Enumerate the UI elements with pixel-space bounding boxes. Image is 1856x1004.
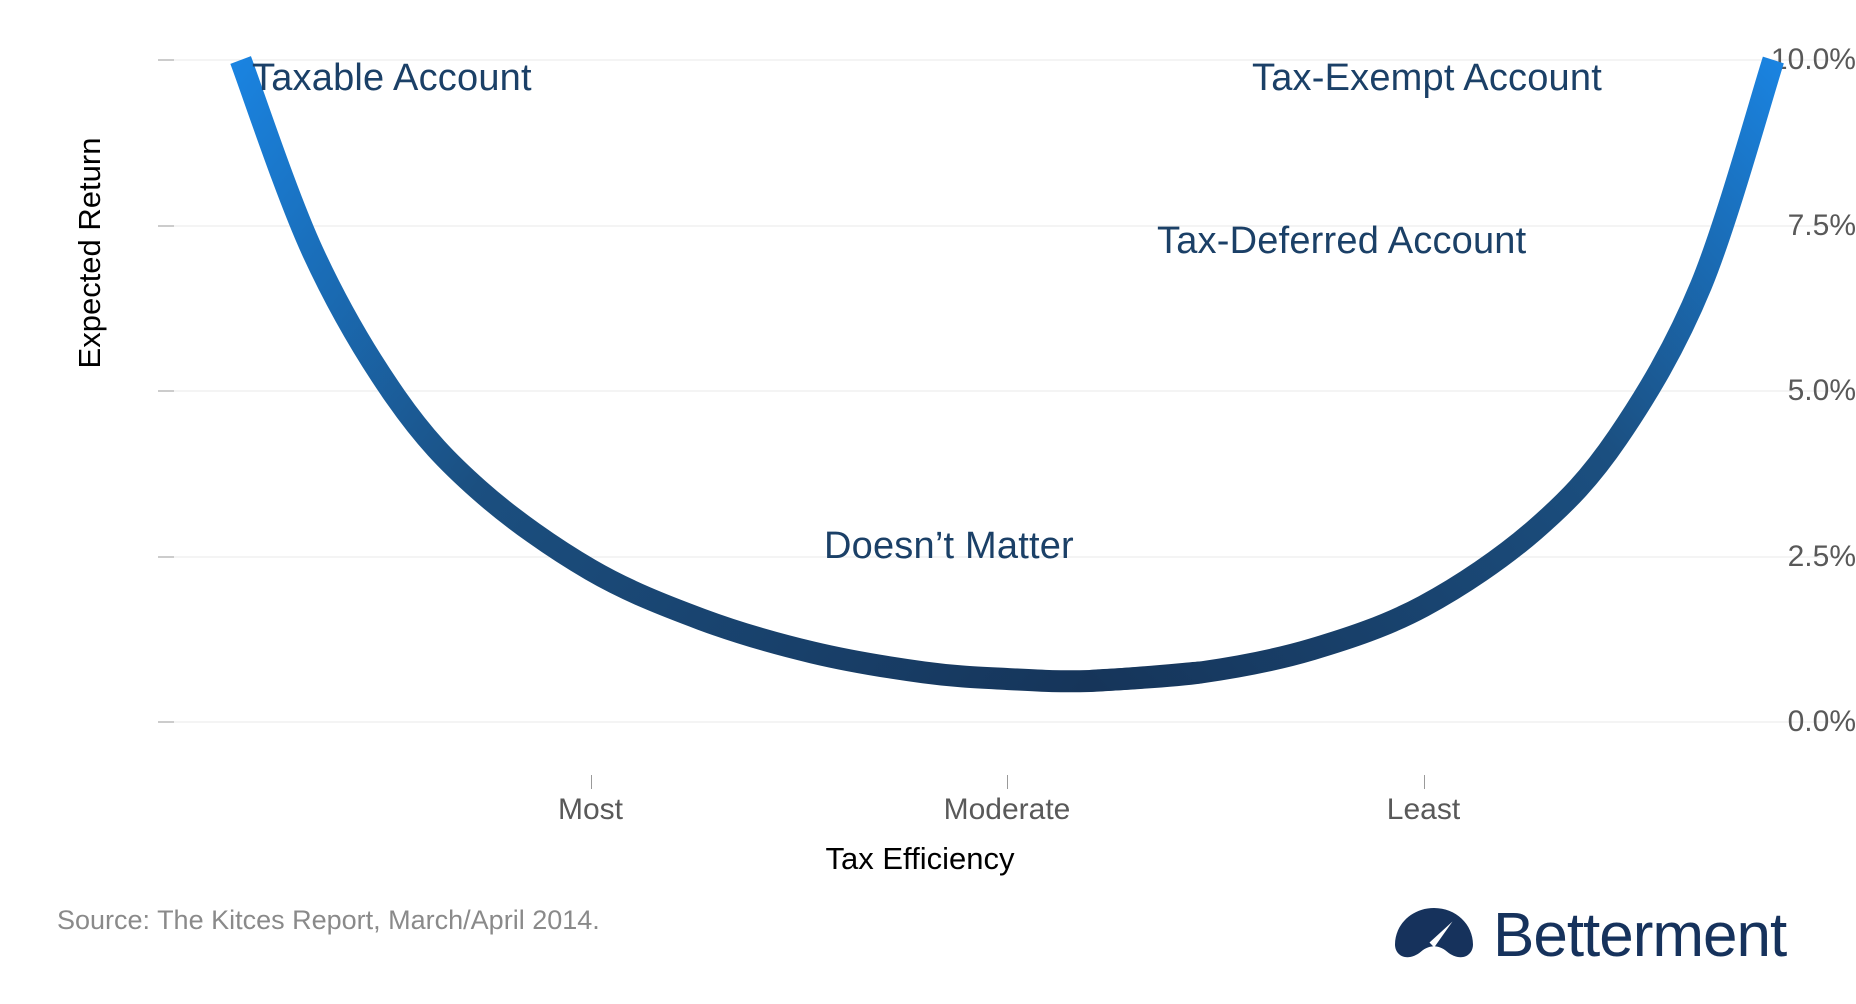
gridline [174, 722, 1840, 723]
y-tick-label: 7.5% [1706, 209, 1856, 243]
y-tick-mark [158, 391, 174, 392]
x-tick-mark [1424, 775, 1425, 789]
betterment-logo: Betterment [1393, 905, 1786, 967]
source-note: Source: The Kitces Report, March/April 2… [57, 905, 600, 936]
y-axis-title: Expected Return [72, 53, 108, 453]
x-tick-mark [1007, 775, 1008, 789]
y-tick-label: 0.0% [1706, 705, 1856, 739]
x-tick-label: Moderate [857, 793, 1157, 827]
gridline [174, 391, 1840, 392]
x-tick-label: Most [441, 793, 741, 827]
y-tick-mark [158, 556, 174, 557]
y-tick-label: 5.0% [1706, 374, 1856, 408]
annotation-tax-exempt-account: Tax-Exempt Account [1252, 57, 1602, 100]
y-tick-label: 10.0% [1706, 43, 1856, 77]
x-tick-mark [591, 775, 592, 789]
y-tick-mark [158, 722, 174, 723]
brand-name: Betterment [1493, 905, 1786, 967]
x-tick-label: Least [1274, 793, 1574, 827]
x-axis-title: Tax Efficiency [0, 841, 1856, 877]
y-tick-mark [158, 225, 174, 226]
y-tick-mark [158, 60, 174, 61]
annotation-taxable-account: Taxable Account [252, 57, 532, 100]
y-tick-label: 2.5% [1706, 540, 1856, 574]
annotation-doesnt-matter: Doesn’t Matter [824, 525, 1074, 568]
gridline [174, 225, 1840, 226]
speedometer-icon [1393, 906, 1475, 966]
x-axis-title-text: Tax Efficiency [826, 841, 1015, 876]
annotation-tax-deferred-account: Tax-Deferred Account [1157, 220, 1526, 263]
chart-figure: 0.0%2.5%5.0%7.5%10.0% Expected Return Ta… [0, 0, 1856, 1004]
